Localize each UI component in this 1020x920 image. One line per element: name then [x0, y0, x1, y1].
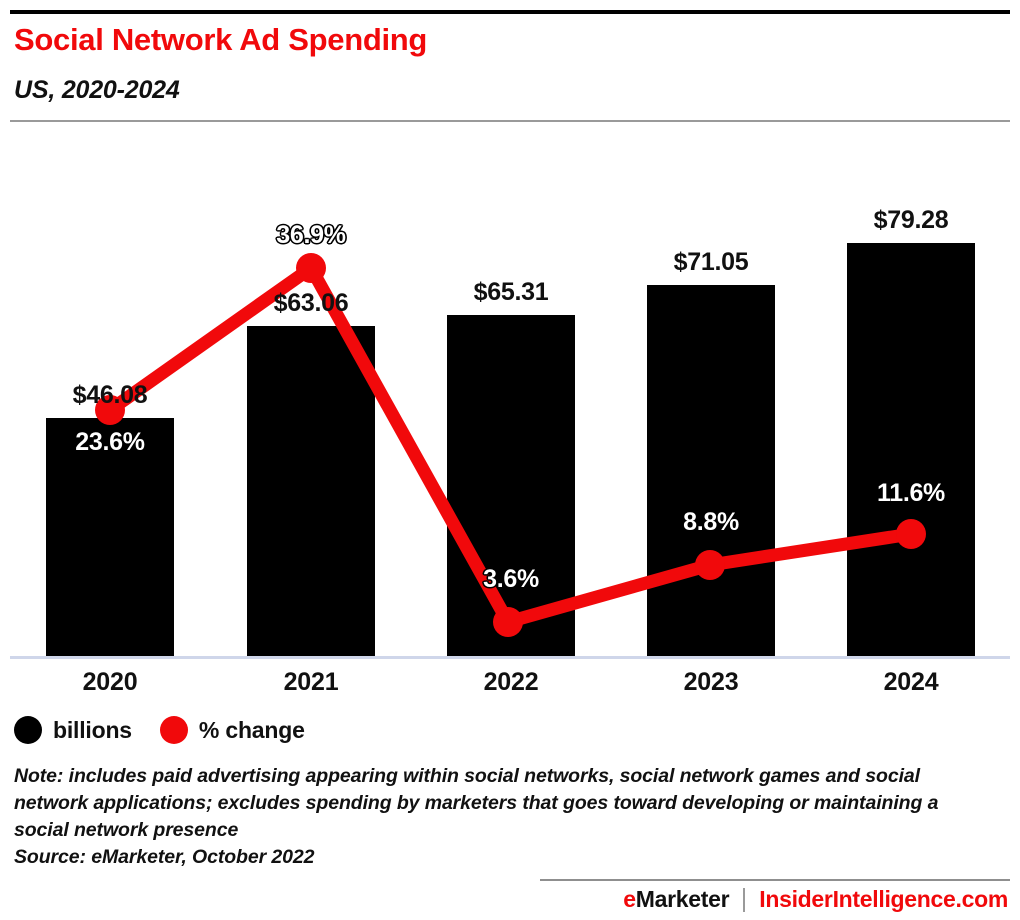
- legend-item-percent-change: % change: [160, 716, 305, 744]
- chart-page: Social Network Ad Spending US, 2020-2024…: [0, 0, 1020, 920]
- x-tick-2024: 2024: [847, 668, 975, 697]
- bar-value-label-2024: $79.28: [847, 206, 975, 235]
- legend-item-billions: billions: [14, 716, 132, 744]
- footer-pipe-divider: [743, 888, 745, 912]
- chart-legend: billions % change: [14, 716, 305, 744]
- brand-emarketer-rest: Marketer: [636, 886, 730, 912]
- x-tick-2021: 2021: [247, 668, 375, 697]
- bar-value-label-2022: $65.31: [447, 278, 575, 307]
- brand-emarketer-e: e: [623, 886, 636, 912]
- brand-emarketer: eMarketer: [623, 886, 729, 913]
- x-tick-2022: 2022: [447, 668, 575, 697]
- bar-2022: [447, 315, 575, 657]
- percent-change-label-2024: 11.6%: [847, 479, 975, 508]
- bar-value-label-2023: $71.05: [647, 248, 775, 277]
- bar-value-label-2020: $46.08: [46, 381, 174, 410]
- brand-insider-intelligence[interactable]: InsiderIntelligence.com: [759, 886, 1008, 913]
- x-axis-line: [10, 656, 1010, 659]
- note-text: Note: includes paid advertising appearin…: [14, 763, 974, 844]
- percent-change-label-2021: 36.9%: [247, 221, 375, 250]
- x-tick-2020: 2020: [46, 668, 174, 697]
- source-text: Source: eMarketer, October 2022: [14, 844, 974, 871]
- percent-change-label-2023: 8.8%: [647, 508, 775, 537]
- footer-branding: eMarketer InsiderIntelligence.com: [623, 886, 1008, 913]
- percent-change-marker-2021: [296, 253, 326, 283]
- bar-value-label-2021: $63.06: [247, 289, 375, 318]
- legend-label-billions: billions: [53, 717, 132, 744]
- legend-circle-icon-percent-change: [160, 716, 188, 744]
- bar-2024: [847, 243, 975, 657]
- percent-change-label-2020: 23.6%: [46, 428, 174, 457]
- x-tick-2023: 2023: [647, 668, 775, 697]
- legend-label-percent-change: % change: [199, 717, 305, 744]
- bar-2021: [247, 326, 375, 657]
- percent-change-label-2022: 3.6%: [447, 565, 575, 594]
- legend-circle-icon-billions: [14, 716, 42, 744]
- chart-notes: Note: includes paid advertising appearin…: [14, 763, 974, 871]
- bar-2023: [647, 285, 775, 657]
- footer-divider: [540, 879, 1010, 881]
